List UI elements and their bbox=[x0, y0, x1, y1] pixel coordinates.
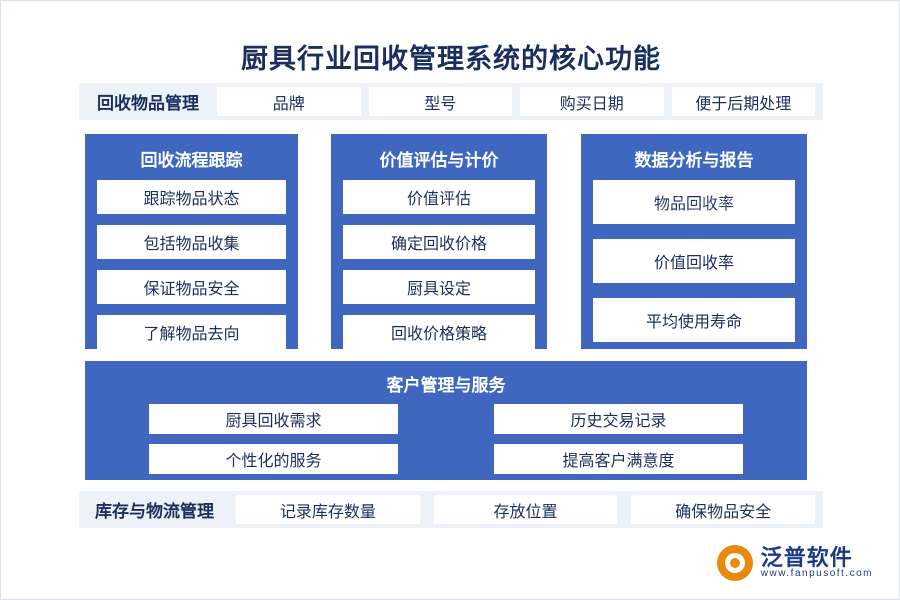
item-kitchenware-setting[interactable]: 厨具设定 bbox=[343, 270, 535, 304]
chip-post-processing[interactable]: 便于后期处理 bbox=[672, 87, 816, 116]
item-item-destination[interactable]: 了解物品去向 bbox=[97, 315, 286, 349]
item-transaction-history[interactable]: 历史交易记录 bbox=[494, 404, 743, 434]
brand-name-cn: 泛普软件 bbox=[761, 546, 873, 569]
block-data-analysis-report: 数据分析与报告 物品回收率 价值回收率 平均使用寿命 bbox=[581, 134, 807, 349]
item-average-lifespan[interactable]: 平均使用寿命 bbox=[593, 298, 795, 342]
block-process-tracking: 回收流程跟踪 跟踪物品状态 包括物品收集 保证物品安全 了解物品去向 bbox=[85, 134, 298, 349]
item-track-status[interactable]: 跟踪物品状态 bbox=[97, 180, 286, 214]
chip-ensure-item-safety[interactable]: 确保物品安全 bbox=[631, 495, 815, 524]
brand-logo: 泛普软件 www.fanpusoft.com bbox=[717, 545, 873, 581]
block-customer-management: 客户管理与服务 厨具回收需求 历史交易记录 个性化的服务 提高客户满意度 bbox=[85, 361, 807, 480]
chip-record-inventory-quantity[interactable]: 记录库存数量 bbox=[236, 495, 420, 524]
item-customer-satisfaction[interactable]: 提高客户满意度 bbox=[494, 444, 743, 474]
block-valuation-pricing-title: 价值评估与计价 bbox=[343, 142, 535, 180]
chip-model[interactable]: 型号 bbox=[369, 87, 513, 116]
chip-storage-location[interactable]: 存放位置 bbox=[434, 495, 618, 524]
recycle-item-management-label: 回收物品管理 bbox=[87, 89, 209, 114]
brand-logo-texts: 泛普软件 www.fanpusoft.com bbox=[761, 546, 873, 580]
block-customer-management-title: 客户管理与服务 bbox=[85, 367, 807, 404]
item-kitchenware-recycle-demand[interactable]: 厨具回收需求 bbox=[149, 404, 398, 434]
diagram-canvas: 厨具行业回收管理系统的核心功能 回收物品管理 品牌 型号 购买日期 便于后期处理… bbox=[0, 0, 900, 600]
customer-items-grid: 厨具回收需求 历史交易记录 个性化的服务 提高客户满意度 bbox=[85, 404, 807, 474]
recycle-item-management-row: 回收物品管理 品牌 型号 购买日期 便于后期处理 bbox=[79, 83, 823, 120]
page-title: 厨具行业回收管理系统的核心功能 bbox=[1, 37, 900, 76]
item-determine-price[interactable]: 确定回收价格 bbox=[343, 225, 535, 259]
brand-logo-icon bbox=[717, 545, 753, 581]
item-value-assessment[interactable]: 价值评估 bbox=[343, 180, 535, 214]
block-process-tracking-title: 回收流程跟踪 bbox=[97, 142, 286, 180]
brand-name-en: www.fanpusoft.com bbox=[761, 569, 873, 580]
item-item-recovery-rate[interactable]: 物品回收率 bbox=[593, 180, 795, 224]
item-item-collection[interactable]: 包括物品收集 bbox=[97, 225, 286, 259]
block-valuation-pricing: 价值评估与计价 价值评估 确定回收价格 厨具设定 回收价格策略 bbox=[331, 134, 547, 349]
chip-brand[interactable]: 品牌 bbox=[217, 87, 361, 116]
inventory-logistics-label: 库存与物流管理 bbox=[87, 497, 222, 522]
chip-purchase-date[interactable]: 购买日期 bbox=[520, 87, 664, 116]
item-value-recovery-rate[interactable]: 价值回收率 bbox=[593, 239, 795, 283]
item-item-safety[interactable]: 保证物品安全 bbox=[97, 270, 286, 304]
item-pricing-strategy[interactable]: 回收价格策略 bbox=[343, 315, 535, 349]
inventory-logistics-row: 库存与物流管理 记录库存数量 存放位置 确保物品安全 bbox=[79, 491, 823, 528]
block-data-analysis-report-title: 数据分析与报告 bbox=[593, 142, 795, 180]
item-personalized-service[interactable]: 个性化的服务 bbox=[149, 444, 398, 474]
